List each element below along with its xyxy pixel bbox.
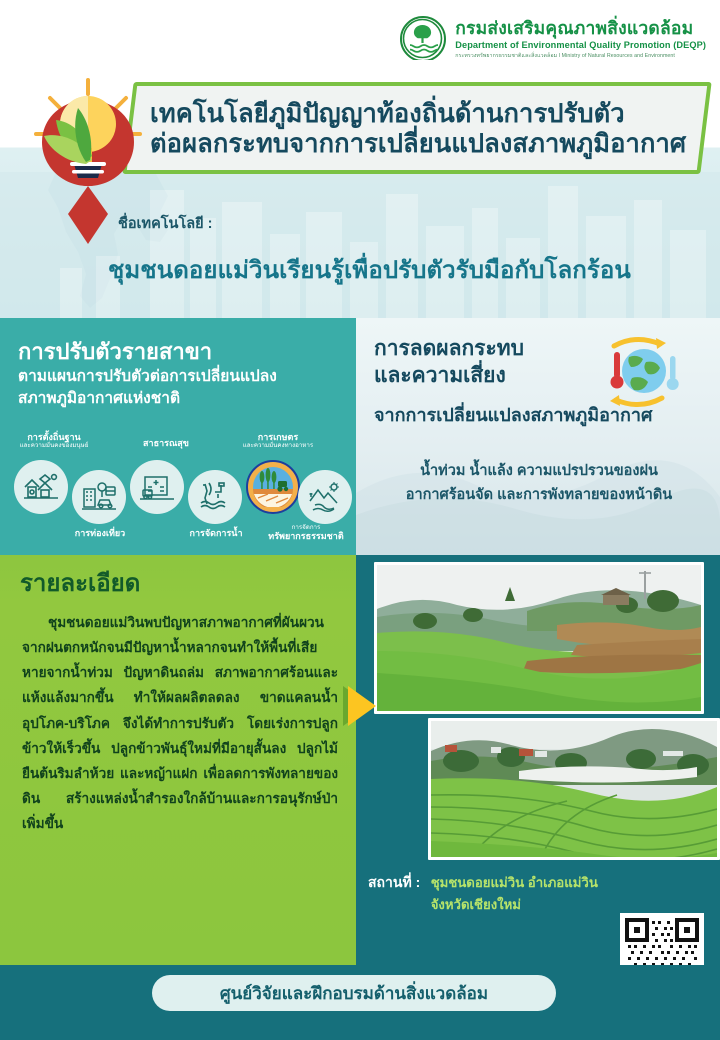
public-health-hospital-icon <box>130 460 184 514</box>
place-value-line-2: จังหวัดเชียงใหม่ <box>431 894 598 916</box>
impact-heading-line-1: การลดผลกระทบ <box>374 336 524 363</box>
water-management-tap-icon <box>188 470 242 524</box>
details-heading: รายละเอียด <box>20 563 140 602</box>
impact-heading: การลดผลกระทบ และความเสี่ยง <box>374 336 524 390</box>
details-body-text: ชุมชนดอยแม่วินพบปัญหาสภาพอากาศที่ผันผวนจ… <box>22 610 338 836</box>
sector-label-agriculture: การเกษตร และความมั่นคงทางอาหาร <box>224 432 332 450</box>
impact-body-line-1: น้ำท่วม น้ำแล้ง ความแปรปรวนของฝน <box>374 460 704 484</box>
footer-pill[interactable]: ศูนย์วิจัยและฝึกอบรมด้านสิ่งแวดล้อม <box>152 975 556 1011</box>
adaptation-heading: การปรับตัวรายสาขา <box>18 334 212 369</box>
place-label: สถานที่ : <box>368 872 420 894</box>
sector-item-agriculture[interactable] <box>246 460 302 514</box>
logo-text-group: กรมส่งเสริมคุณภาพสิ่งแวดล้อม Department … <box>455 19 706 59</box>
poster-root: กรมส่งเสริมคุณภาพสิ่งแวดล้อม Department … <box>0 0 720 1040</box>
sector-item-natural-resources[interactable] <box>298 470 354 524</box>
adaptation-subheading-line-1: ตามแผนการปรับตัวต่อการเปลี่ยนแปลง <box>18 366 348 388</box>
settlement-houses-icon <box>14 460 68 514</box>
place-value: ชุมชนดอยแม่วิน อำเภอแม่วิน จังหวัดเชียงใ… <box>431 872 598 917</box>
org-name-english: Department of Environmental Quality Prom… <box>455 40 706 51</box>
sector-label-public-health: สาธารณสุข <box>112 438 220 448</box>
hero-section: เทคโนโลยีภูมิปัญญาท้องถิ่นด้านการปรับตัว… <box>0 60 720 318</box>
title-line-1: เทคโนโลยีภูมิปัญญาท้องถิ่นด้านการปรับตัว <box>150 100 706 130</box>
adaptation-subheading-line-2: สภาพภูมิอากาศแห่งชาติ <box>18 388 348 410</box>
adaptation-sectors-panel: การปรับตัวรายสาขา ตามแผนการปรับตัวต่อการ… <box>0 318 356 555</box>
sector-item-settlement[interactable] <box>14 460 70 514</box>
sector-icon-row: การตั้งถิ่นฐาน และความมั่นคงของมนุษย์ สา… <box>6 454 354 550</box>
tourism-city-car-icon <box>72 470 126 524</box>
place-info: สถานที่ : ชุมชนดอยแม่วิน อำเภอแม่วิน จัง… <box>368 872 658 917</box>
sector-item-water[interactable] <box>188 470 244 524</box>
terraced-rice-field-photo-2 <box>428 718 720 860</box>
technology-label: ชื่อเทคโนโลยี : <box>118 212 213 235</box>
title-line-2: ต่อผลกระทบจากการเปลี่ยนแปลงสภาพภูมิอากาศ <box>150 130 706 160</box>
technology-name: ชุมชนดอยแม่วินเรียนรู้เพื่อปรับตัวรับมือ… <box>108 250 708 289</box>
sector-item-tourism[interactable] <box>72 470 128 524</box>
impact-body-text: น้ำท่วม น้ำแล้ง ความแปรปรวนของฝน อากาศร้… <box>374 460 704 508</box>
deqp-tree-logo-icon <box>400 16 446 62</box>
org-name-thai: กรมส่งเสริมคุณภาพสิ่งแวดล้อม <box>455 19 706 39</box>
main-title-text: เทคโนโลยีภูมิปัญญาท้องถิ่นด้านการปรับตัว… <box>150 90 706 170</box>
globe-thermometer-icon <box>594 334 686 412</box>
details-panel: รายละเอียด ชุมชนดอยแม่วินพบปัญหาสภาพอากา… <box>0 555 356 965</box>
ministry-subtitle: กระทรวงทรัพยากรธรรมชาติและสิ่งแวดล้อม I … <box>455 53 706 59</box>
impact-heading-line-2: และความเสี่ยง <box>374 363 524 390</box>
sector-label-tourism: การท่องเที่ยว <box>46 528 154 538</box>
natural-resources-mountain-icon <box>298 470 352 524</box>
sector-label-natural-resources: การจัดการ ทรัพยากรธรรมชาติ <box>252 524 360 542</box>
impact-reduction-panel: การลดผลกระทบ และความเสี่ยง จากการเปลี่ยน… <box>356 318 720 555</box>
footer-text: ศูนย์วิจัยและฝึกอบรมด้านสิ่งแวดล้อม <box>220 980 488 1007</box>
cold-thermometer <box>667 356 679 390</box>
sector-label-settlement: การตั้งถิ่นฐาน และความมั่นคงของมนุษย์ <box>0 432 108 450</box>
deqp-logo-group: กรมส่งเสริมคุณภาพสิ่งแวดล้อม Department … <box>400 16 706 62</box>
agriculture-farm-icon <box>246 460 300 514</box>
hot-thermometer <box>611 352 624 389</box>
terraced-rice-field-photo-1 <box>374 562 704 714</box>
adaptation-subheading: ตามแผนการปรับตัวต่อการเปลี่ยนแปลง สภาพภู… <box>18 366 348 411</box>
impact-body-line-2: อากาศร้อนจัด และการพังทลายของหน้าดิน <box>374 484 704 508</box>
sector-item-public-health[interactable] <box>130 460 186 514</box>
yellow-arrow-icon <box>348 686 376 726</box>
place-value-line-1: ชุมชนดอยแม่วิน อำเภอแม่วิน <box>431 872 598 894</box>
